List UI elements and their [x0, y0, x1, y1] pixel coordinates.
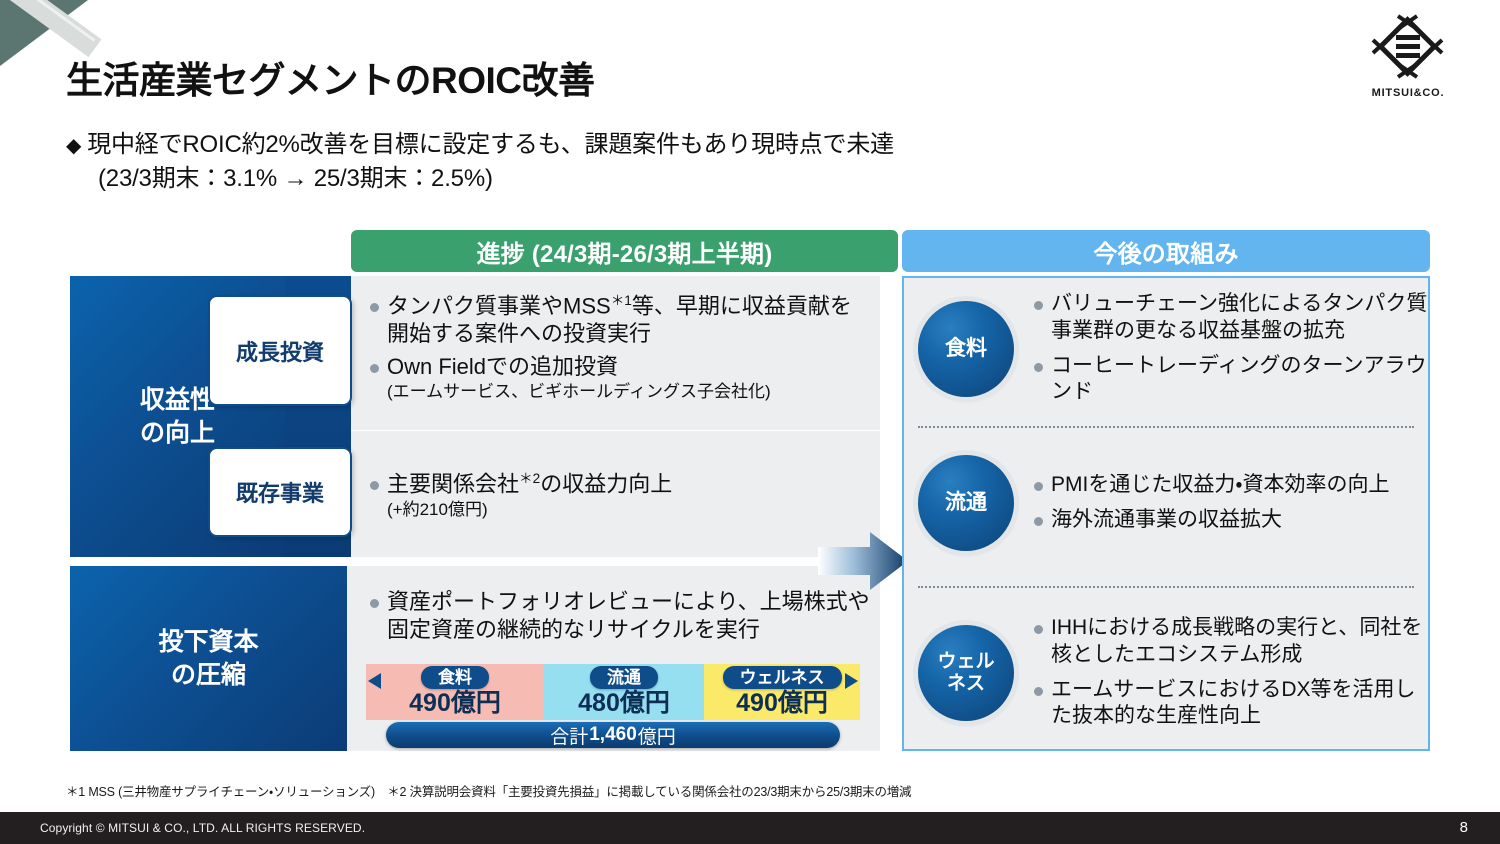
segment-badge-food: 食料	[918, 301, 1014, 397]
future-row-divider-1	[918, 426, 1414, 428]
mitsui-diamond-icon	[1371, 14, 1445, 84]
lead-line-2: (23/3期末：3.1% → 25/3期末：2.5%)	[98, 162, 894, 196]
segment-badge-distribution: 流通	[918, 455, 1014, 551]
slide-root: MITSUI&CO. 生活産業セグメントのROIC改善 ◆現中経でROIC約2%…	[0, 0, 1500, 844]
recycling-segment-wellness-label: ウェルネス	[723, 666, 842, 689]
logo-wordmark: MITSUI&CO.	[1354, 87, 1462, 99]
transition-arrow-icon	[818, 530, 908, 592]
footer-copyright: Copyright © MITSUI & CO., LTD. ALL RIGHT…	[40, 821, 365, 835]
list-item: エームサービスにおけるDX等を活用した抜本的な生産性向上	[1032, 677, 1428, 730]
bullet-subtext: (+約210億円)	[387, 499, 873, 520]
bullet-text: 資産ポートフォリオレビューにより、上場株式や固定資産の継続的なリサイクルを実行	[387, 589, 870, 642]
future-row-wellness: ウェル ネス IHHにおける成長戦略の実行と、同社を核としたエコシステム形成 エ…	[904, 600, 1428, 745]
bullet-text-tail: の収益力向上	[540, 471, 672, 496]
future-row-divider-2	[918, 586, 1414, 588]
lead-line-1: 現中経でROIC約2%改善を目標に設定するも、課題案件もあり現時点で未達	[87, 131, 894, 158]
card-growth-investment-label: 成長投資	[236, 335, 324, 367]
card-existing-business-label: 既存事業	[236, 476, 324, 508]
recycling-segments: 食料 490億円 流通 480億円 ウェルネス 490億円	[366, 664, 860, 720]
recycling-segment-food-label: 食料	[421, 666, 489, 689]
bullet-text: 主要関係会社	[387, 471, 519, 496]
list-item: バリューチェーン強化によるタンパク質事業群の更なる収益基盤の拡充	[1032, 291, 1428, 344]
segment-badge-distribution-label: 流通	[945, 491, 987, 515]
profitability-label-line-1: 収益性	[140, 386, 215, 414]
list-item: Own Fieldでの追加投資(エームサービス、ビギホールディングス子会社化)	[368, 353, 873, 403]
capital-compression-bullets: 資産ポートフォリオレビューにより、上場株式や固定資産の継続的なリサイクルを実行	[368, 588, 873, 648]
page-title: 生活産業セグメントのROIC改善	[66, 50, 595, 104]
recycling-segment-distribution: 流通 480億円	[544, 664, 704, 720]
existing-business-bullets: 主要関係会社＊2の収益力向上(+約210億円)	[368, 470, 873, 525]
list-item: PMIを通じた収益力・資本効率の向上	[1032, 472, 1428, 498]
recycling-total-value: 1,460	[589, 724, 637, 746]
future-row-food: 食料 バリューチェーン強化によるタンパク質事業群の更なる収益基盤の拡充 コーヒー…	[904, 286, 1428, 411]
card-growth-investment: 成長投資	[208, 295, 352, 406]
capital-label-line-2: の圧縮	[171, 661, 246, 689]
list-item: 主要関係会社＊2の収益力向上(+約210億円)	[368, 470, 873, 520]
lead-text: ◆現中経でROIC約2%改善を目標に設定するも、課題案件もあり現時点で未達 (2…	[66, 128, 894, 196]
footer-bar: Copyright © MITSUI & CO., LTD. ALL RIGHT…	[0, 812, 1500, 844]
capital-label-line-1: 投下資本	[158, 628, 258, 656]
list-item: コーヒートレーディングのターンアラウンド	[1032, 353, 1428, 406]
capital-axis-label: 投下資本 の圧縮	[70, 566, 347, 751]
footnote-marker: ＊2	[519, 471, 540, 486]
recycling-segment-wellness: ウェルネス 490億円	[704, 664, 860, 720]
recycling-total-bar: 合計 1,460億円	[386, 722, 840, 748]
footnote-marker: ＊1	[611, 293, 632, 308]
future-initiatives-panel: 食料 バリューチェーン強化によるタンパク質事業群の更なる収益基盤の拡充 コーヒー…	[902, 276, 1430, 751]
footnote: ＊1 MSS (三井物産サプライチェーン・ソリューションズ) ＊2 決算説明会資…	[66, 781, 911, 800]
recycling-total-prefix: 合計	[550, 722, 588, 749]
card-existing-business: 既存事業	[208, 447, 352, 537]
bullet-subtext: (エームサービス、ビギホールディングス子会社化)	[387, 381, 873, 402]
mitsui-logo: MITSUI&CO.	[1354, 14, 1462, 99]
recycling-segment-distribution-value: 480億円	[578, 690, 670, 716]
progress-header: 進捗 (24/3期-26/3期上半期)	[351, 230, 898, 272]
progress-panel-divider	[351, 430, 880, 431]
bullet-text: Own Fieldでの追加投資	[387, 354, 618, 379]
segment-badge-food-label: 食料	[945, 337, 987, 361]
list-item: IHHにおける成長戦略の実行と、同社を核としたエコシステム形成	[1032, 615, 1428, 668]
arrow-right-icon	[845, 673, 858, 689]
recycling-total-suffix: 億円	[638, 722, 676, 749]
segment-badge-wellness-label-2: ネス	[947, 673, 985, 694]
corner-light-stripe	[0, 0, 95, 42]
bullet-text: タンパク質事業やMSS	[387, 293, 611, 318]
future-wellness-bullets: IHHにおける成長戦略の実行と、同社を核としたエコシステム形成 エームサービスに…	[1032, 615, 1428, 730]
arrow-left-icon	[368, 673, 381, 689]
page-number: 8	[1460, 819, 1468, 836]
list-item: タンパク質事業やMSS＊1等、早期に収益貢献を開始する案件への投資実行	[368, 292, 873, 348]
recycling-segment-distribution-label: 流通	[590, 666, 658, 689]
asset-recycling-chart: 食料 490億円 流通 480億円 ウェルネス 490億円 合計 1,460億円	[366, 664, 860, 748]
recycling-segment-food: 食料 490億円	[366, 664, 544, 720]
segment-badge-wellness: ウェル ネス	[918, 625, 1014, 721]
list-item: 資産ポートフォリオレビューにより、上場株式や固定資産の継続的なリサイクルを実行	[368, 588, 873, 643]
growth-investment-bullets: タンパク質事業やMSS＊1等、早期に収益貢献を開始する案件への投資実行 Own …	[368, 292, 873, 408]
future-header: 今後の取組み	[902, 230, 1430, 272]
profitability-label-line-2: の向上	[140, 419, 215, 447]
recycling-segment-wellness-value: 490億円	[736, 690, 828, 716]
future-distribution-bullets: PMIを通じた収益力・資本効率の向上 海外流通事業の収益拡大	[1032, 472, 1428, 534]
future-row-distribution: 流通 PMIを通じた収益力・資本効率の向上 海外流通事業の収益拡大	[904, 440, 1428, 565]
segment-badge-wellness-label-1: ウェル	[937, 651, 994, 672]
diamond-bullet-icon: ◆	[66, 135, 81, 157]
recycling-segment-food-value: 490億円	[409, 690, 501, 716]
list-item: 海外流通事業の収益拡大	[1032, 507, 1428, 533]
corner-gray-stripe	[0, 0, 101, 57]
future-food-bullets: バリューチェーン強化によるタンパク質事業群の更なる収益基盤の拡充 コーヒートレー…	[1032, 291, 1428, 406]
